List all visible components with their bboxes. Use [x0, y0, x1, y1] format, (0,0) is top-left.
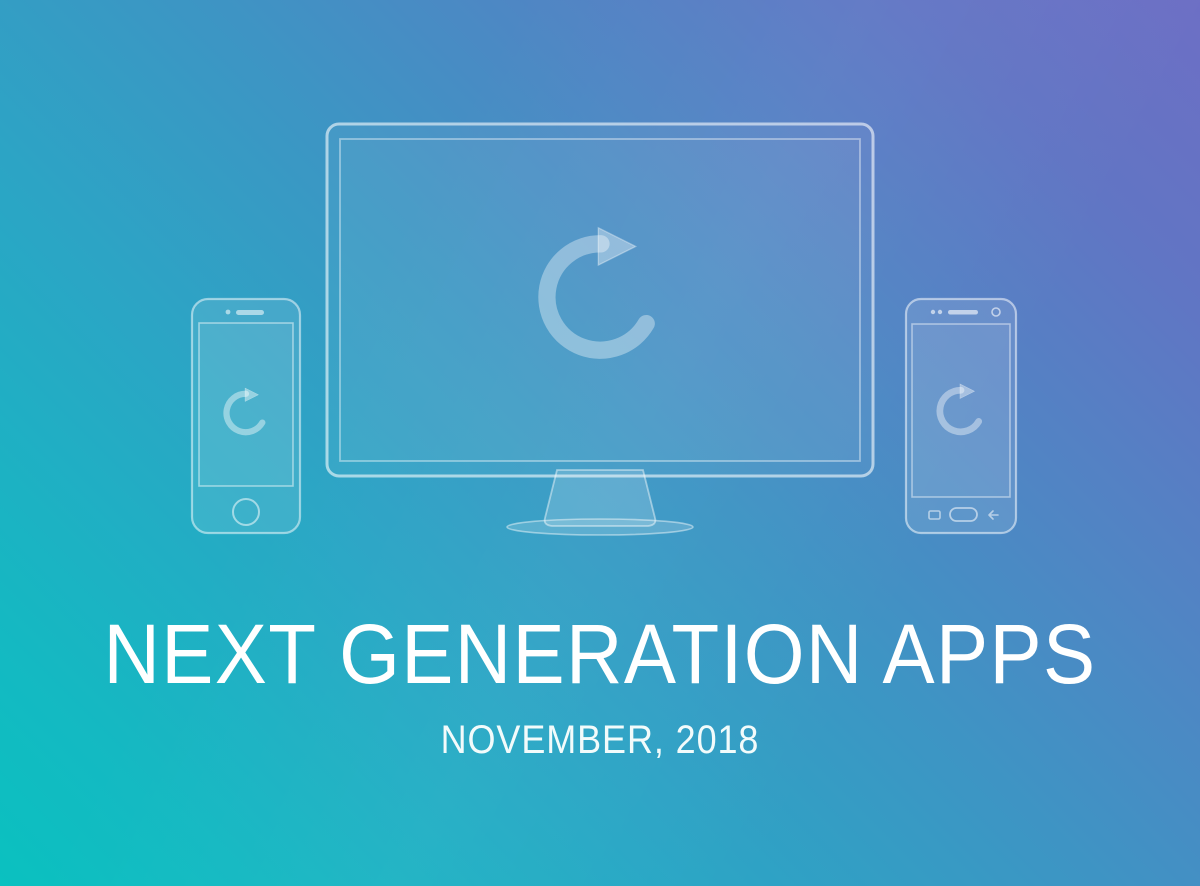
speaker-slot-icon [236, 310, 264, 315]
devices-illustration [0, 0, 1200, 600]
sensor-dot-icon [931, 310, 935, 314]
desktop-monitor-device [327, 124, 873, 535]
android-device [906, 299, 1016, 533]
iphone-device [192, 299, 300, 533]
page-subtitle: NOVEMBER, 2018 [60, 720, 1140, 760]
iphone-screen [199, 323, 293, 486]
sensor-dot-icon [938, 310, 942, 314]
page-title: NEXT GENERATION APPS [42, 612, 1158, 696]
title-block: NEXT GENERATION APPS NOVEMBER, 2018 [0, 612, 1200, 760]
title-slide: NEXT GENERATION APPS NOVEMBER, 2018 [0, 0, 1200, 886]
speaker-slot-icon [948, 310, 978, 315]
android-screen [912, 324, 1010, 497]
monitor-stand-neck [545, 470, 656, 526]
monitor-screen [340, 139, 860, 461]
devices-svg [0, 0, 1200, 600]
camera-dot-icon [226, 310, 231, 315]
